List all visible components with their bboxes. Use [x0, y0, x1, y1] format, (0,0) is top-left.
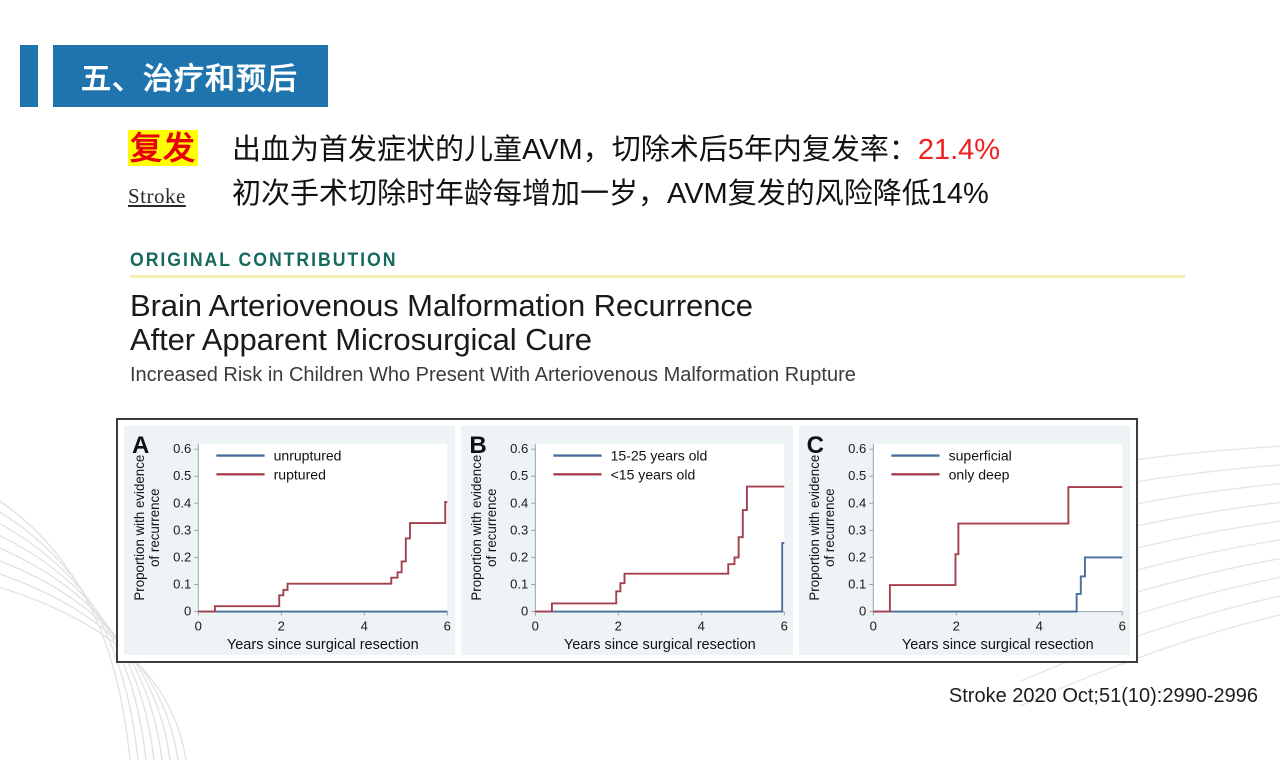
journal-source-label: Stroke	[128, 174, 186, 218]
slide-title-banner: 五、治疗和预后	[0, 45, 328, 107]
svg-text:0.2: 0.2	[848, 549, 866, 564]
svg-text:0.5: 0.5	[173, 468, 191, 483]
recurrence-rate-value: 21.4%	[918, 128, 1000, 172]
svg-text:0: 0	[521, 604, 528, 619]
article-kicker: ORIGINAL CONTRIBUTION	[130, 250, 397, 272]
chart-panel-b: B 00.10.20.30.40.50.60246Years since sur…	[461, 426, 792, 655]
article-header: ORIGINAL CONTRIBUTION Brain Arteriovenou…	[130, 250, 1190, 387]
journal-source-cell: Stroke	[128, 172, 232, 218]
keyword-recurrence-cell: 复发	[128, 126, 232, 172]
body-line-1: 复发 出血为首发症状的儿童AVM，切除术后5年内复发率： 21.4%	[128, 126, 1258, 172]
svg-text:only deep: only deep	[948, 466, 1009, 482]
svg-text:0.1: 0.1	[173, 577, 191, 592]
svg-text:Proportion with evidenceof rec: Proportion with evidenceof recurrence	[807, 455, 837, 601]
svg-text:0.5: 0.5	[510, 468, 528, 483]
panel-letter-a: A	[132, 432, 149, 460]
svg-text:0.4: 0.4	[173, 495, 191, 510]
chart-panel-a: A 00.10.20.30.40.50.60246Years since sur…	[124, 426, 455, 655]
svg-text:0.3: 0.3	[510, 522, 528, 537]
body-line-1-text: 出血为首发症状的儿童AVM，切除术后5年内复发率：	[232, 128, 918, 172]
kaplan-meier-chart-b: 00.10.20.30.40.50.60246Years since surgi…	[461, 426, 792, 655]
svg-text:0.2: 0.2	[173, 549, 191, 564]
keyword-recurrence: 复发	[128, 130, 198, 166]
svg-text:0.4: 0.4	[848, 495, 866, 510]
title-accent-chip	[20, 45, 38, 107]
svg-text:0.6: 0.6	[848, 441, 866, 456]
title-bar: 五、治疗和预后	[53, 45, 328, 107]
citation-text: Stroke 2020 Oct;51(10):2990-2996	[949, 685, 1258, 708]
svg-text:Years since surgical resection: Years since surgical resection	[227, 637, 419, 653]
svg-text:2: 2	[952, 618, 959, 633]
svg-text:0: 0	[532, 618, 539, 633]
panel-letter-b: B	[469, 432, 486, 460]
svg-text:0.6: 0.6	[173, 441, 191, 456]
svg-text:0.4: 0.4	[510, 495, 528, 510]
svg-text:4: 4	[361, 618, 368, 633]
svg-text:6: 6	[781, 618, 788, 633]
svg-text:0: 0	[195, 618, 202, 633]
svg-text:0: 0	[184, 604, 191, 619]
body-line-2-text: 初次手术切除时年龄每增加一岁，AVM复发的风险降低14%	[232, 172, 989, 216]
svg-text:2: 2	[278, 618, 285, 633]
panel-letter-c: C	[807, 432, 824, 460]
svg-text:0.3: 0.3	[848, 522, 866, 537]
svg-text:Proportion with evidenceof rec: Proportion with evidenceof recurrence	[469, 455, 499, 601]
svg-text:0.1: 0.1	[848, 577, 866, 592]
article-subtitle: Increased Risk in Children Who Present W…	[130, 363, 1115, 387]
page-title: 五、治疗和预后	[81, 54, 298, 98]
svg-text:6: 6	[1118, 618, 1125, 633]
svg-text:4: 4	[1035, 618, 1042, 633]
svg-text:superficial: superficial	[948, 448, 1011, 464]
svg-text:0.6: 0.6	[510, 441, 528, 456]
figure-panel-group: A 00.10.20.30.40.50.60246Years since sur…	[116, 418, 1138, 663]
svg-text:<15 years old: <15 years old	[611, 466, 696, 482]
svg-text:ruptured: ruptured	[274, 466, 326, 482]
kaplan-meier-chart-a: 00.10.20.30.40.50.60246Years since surgi…	[124, 426, 455, 655]
svg-text:2: 2	[615, 618, 622, 633]
svg-text:unruptured: unruptured	[274, 448, 342, 464]
svg-text:0.5: 0.5	[848, 468, 866, 483]
svg-text:0.1: 0.1	[510, 577, 528, 592]
svg-text:0: 0	[869, 618, 876, 633]
body-text-block: 复发 出血为首发症状的儿童AVM，切除术后5年内复发率： 21.4% Strok…	[128, 126, 1258, 218]
article-rule-divider	[130, 275, 1185, 278]
svg-text:6: 6	[444, 618, 451, 633]
svg-text:Years since surgical resection: Years since surgical resection	[564, 637, 756, 653]
svg-text:Years since surgical resection: Years since surgical resection	[902, 637, 1094, 653]
svg-text:0: 0	[859, 604, 866, 619]
svg-text:4: 4	[698, 618, 705, 633]
svg-text:0.3: 0.3	[173, 522, 191, 537]
kaplan-meier-chart-c: 00.10.20.30.40.50.60246Years since surgi…	[799, 426, 1130, 655]
chart-panel-c: C 00.10.20.30.40.50.60246Years since sur…	[799, 426, 1130, 655]
svg-text:Proportion with evidenceof rec: Proportion with evidenceof recurrence	[132, 455, 162, 601]
svg-text:15-25 years old: 15-25 years old	[611, 448, 708, 464]
article-title-line-1: Brain Arteriovenous Malformation Recurre…	[130, 289, 1190, 323]
svg-text:0.2: 0.2	[510, 549, 528, 564]
body-line-2: Stroke 初次手术切除时年龄每增加一岁，AVM复发的风险降低14%	[128, 172, 1258, 218]
article-title: Brain Arteriovenous Malformation Recurre…	[130, 289, 1190, 357]
article-title-line-2: After Apparent Microsurgical Cure	[130, 323, 1190, 357]
